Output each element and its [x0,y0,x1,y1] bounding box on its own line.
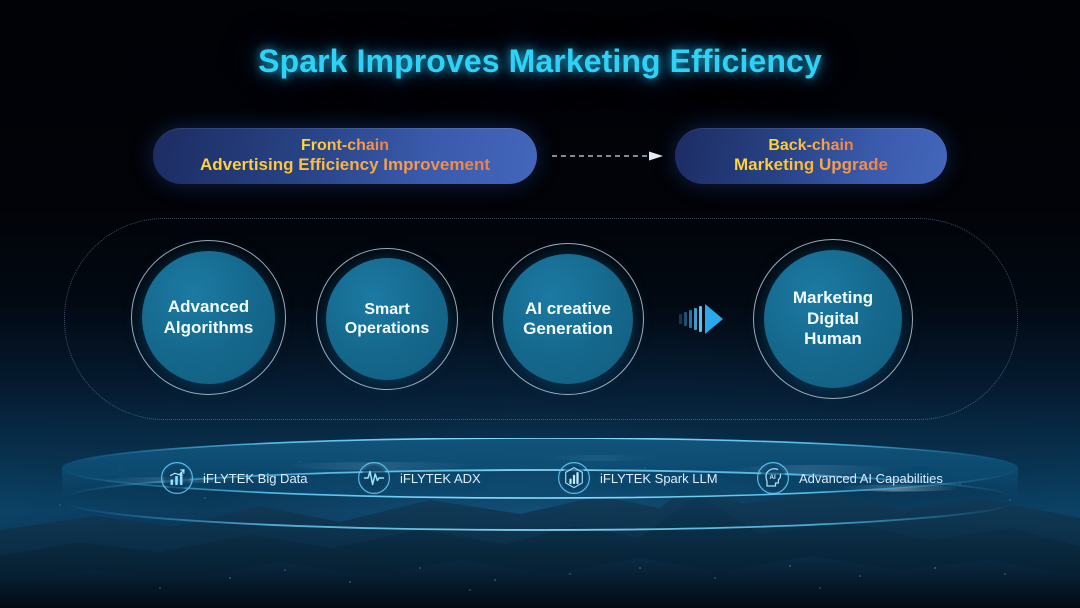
stage-circle-advanced-algorithms[interactable]: Advanced Algorithms [131,240,286,395]
stage-label-line2: Operations [345,320,429,337]
stage-label-line1: Marketing [793,288,873,307]
page-title: Spark Improves Marketing Efficiency [0,43,1080,80]
pill-back-chain-line2: Marketing Upgrade [734,155,888,175]
stage-circle-marketing-digital-human[interactable]: Marketing Digital Human [753,239,913,399]
stage-label-line2: Algorithms [164,318,254,337]
bar-chart-icon [160,461,194,495]
stage-circle-marketing-digital-human-inner: Marketing Digital Human [764,250,902,388]
ai-head-icon: AI [756,461,790,495]
stage-label-line1: Advanced [168,297,249,316]
stage-circle-ai-creative-generation-inner: AI creative Generation [503,254,633,384]
pill-back-chain-line1: Back-chain [768,137,853,156]
capability-item-advanced-ai-capabilities[interactable]: AI Advanced AI Capabilities [756,457,943,499]
stage-circle-smart-operations-inner: Smart Operations [326,258,448,380]
dashed-arrow-right-icon [552,150,664,162]
pill-front-chain-line1: Front-chain [301,137,389,156]
pill-front-chain-line2: Advertising Efficiency Improvement [200,155,490,175]
stage-circle-smart-operations[interactable]: Smart Operations [316,248,458,390]
stage-circle-advanced-algorithms-inner: Advanced Algorithms [142,251,275,384]
capability-item-iflytek-spark-llm[interactable]: iFLYTEK Spark LLM [557,457,718,499]
slide-canvas: Spark Improves Marketing Efficiency Fron… [0,0,1080,608]
stage-label-line1: AI creative [525,299,611,318]
capability-label: iFLYTEK ADX [400,471,481,486]
svg-text:AI: AI [769,474,776,481]
stage-label-line1: Smart [364,301,409,318]
pill-front-chain[interactable]: Front-chain Advertising Efficiency Impro… [153,128,537,184]
stage-circle-ai-creative-generation[interactable]: AI creative Generation [492,243,644,395]
capability-label: iFLYTEK Big Data [203,471,308,486]
capability-item-iflytek-big-data[interactable]: iFLYTEK Big Data [160,457,308,499]
chevron-play-arrow-right-icon [679,300,725,338]
capability-label: Advanced AI Capabilities [799,471,943,486]
stage-label-line3: Human [804,329,862,348]
capability-item-iflytek-adx[interactable]: iFLYTEK ADX [357,457,481,499]
waveform-pulse-icon [357,461,391,495]
pill-back-chain[interactable]: Back-chain Marketing Upgrade [675,128,947,184]
phase-pill-row: Front-chain Advertising Efficiency Impro… [0,128,1080,184]
capability-label: iFLYTEK Spark LLM [600,471,718,486]
stage-label-line2: Digital [807,309,859,328]
capability-row: iFLYTEK Big Data iFLYTEK ADX iFLYTEK Spa… [0,457,1080,499]
stage-label-line2: Generation [523,319,613,338]
hexagon-bars-icon [557,461,591,495]
